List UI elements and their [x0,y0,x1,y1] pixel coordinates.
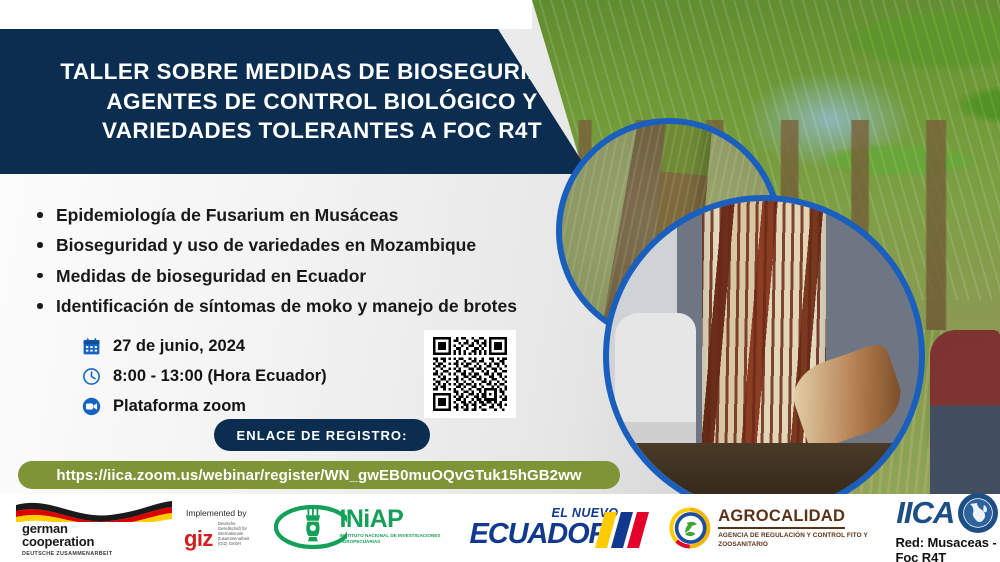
german-line3: DEUTSCHE ZUSAMMENARBEIT [22,551,112,557]
agrocalidad-subtitle: AGENCIA DE REGULACIÓN Y CONTROL FITO Y Z… [718,532,879,549]
list-item: Identificación de síntomas de moko y man… [30,296,610,317]
iniap-emblem-icon [273,503,347,553]
detail-time-label: 8:00 - 13:00 (Hora Ecuador) [113,367,327,386]
giz-logo: Implemented by giz Deutsche Gesellschaft… [184,499,259,557]
top-white-strip [0,0,532,29]
detail-date-label: 27 de junio, 2024 [113,337,245,356]
el-nuevo-ecuador-logo: EL NUEVO ECUADOR [467,499,647,557]
iica-wordmark-row: IICA [896,492,999,534]
giz-subtitle: Deutsche Gesellschaft für Internationale… [218,521,260,547]
event-details: 27 de junio, 2024 8:00 - 13:00 (Hora Ecu… [80,334,410,424]
german-line1: german [22,522,112,536]
ecuador-wordmark: ECUADOR [469,518,608,551]
german-flag-wave-icon [14,499,174,522]
detail-platform-label: Plataforma zoom [113,397,246,416]
poster-root: TALLER SOBRE MEDIDAS DE BIOSEGURIDAD, AG… [0,0,1000,562]
page-title: TALLER SOBRE MEDIDAS DE BIOSEGURIDAD, AG… [57,57,587,147]
iniap-text: INiAP INSTITUTO NACIONAL DE INVESTIGACIO… [339,508,441,545]
calendar-icon [80,335,102,357]
agrocalidad-emblem-icon [669,502,711,554]
giz-wordmark: giz [184,530,213,548]
giz-implemented-by: Implemented by [186,508,246,518]
giz-wordmark-row: giz Deutsche Gesellschaft für Internatio… [184,521,259,549]
agrocalidad-logo: AGROCALIDAD AGENCIA DE REGULACIÓN Y CONT… [669,499,879,557]
topics-list: Epidemiología de Fusarium en Musáceas Bi… [30,205,610,326]
agrocalidad-wordmark: AGROCALIDAD [718,507,845,529]
detail-date: 27 de junio, 2024 [80,334,410,358]
video-camera-icon [80,395,102,417]
german-cooperation-text: german cooperation DEUTSCHE ZUSAMMENARBE… [22,522,112,557]
german-line2: cooperation [22,535,112,549]
photo-inset-pseudostem-symptoms [603,195,925,517]
iica-globe-seal-icon [957,492,999,534]
iniap-wordmark: INiAP [339,508,441,531]
detail-platform: Plataforma zoom [80,394,410,418]
qr-code[interactable] [433,337,507,411]
list-item: Medidas de bioseguridad en Ecuador [30,266,610,287]
detail-time: 8:00 - 13:00 (Hora Ecuador) [80,364,410,388]
list-item: Bioseguridad y uso de variedades en Moza… [30,235,610,256]
list-item: Epidemiología de Fusarium en Musáceas [30,205,610,226]
iica-wordmark: IICA [896,497,954,528]
clock-icon [80,365,102,387]
iica-network-label: Red: Musaceas - Foc R4T [895,535,1000,562]
iica-logo: IICA Red: Musaceas - Foc R4T [895,499,1000,557]
ecuador-flag-stripes-icon [595,512,649,548]
registration-url-link[interactable]: https://iica.zoom.us/webinar/register/WN… [18,461,620,489]
german-cooperation-logo: german cooperation DEUTSCHE ZUSAMMENARBE… [14,499,174,557]
qr-code-container[interactable] [424,330,516,418]
iniap-logo: INiAP INSTITUTO NACIONAL DE INVESTIGACIO… [273,499,441,557]
agrocalidad-text: AGROCALIDAD AGENCIA DE REGULACIÓN Y CONT… [718,507,879,549]
footer-logo-bar: german cooperation DEUTSCHE ZUSAMMENARBE… [0,494,1000,562]
field-worker [930,330,1000,510]
registro-button[interactable]: ENLACE DE REGISTRO: [214,419,430,451]
iniap-subtitle: INSTITUTO NACIONAL DE INVESTIGACIONES AG… [339,533,441,545]
